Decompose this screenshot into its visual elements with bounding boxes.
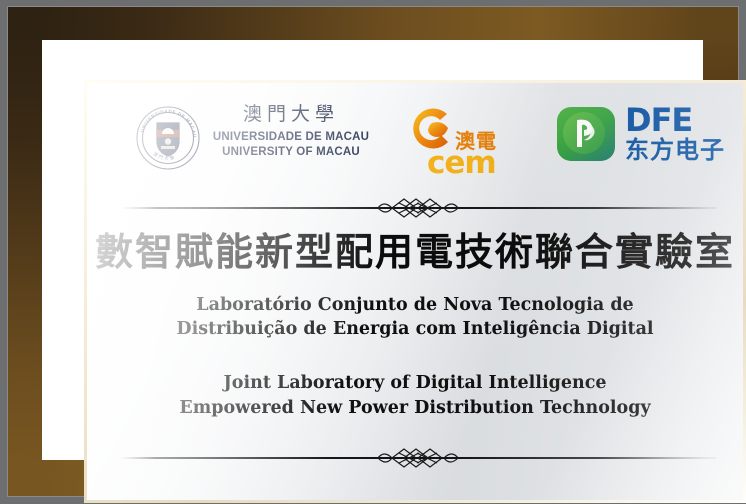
interlaced-diamond-ornament-icon: [366, 195, 470, 221]
dfe-wordmark: DFE: [625, 104, 692, 136]
plaque-title-portuguese-line1: Laboratório Conjunto de Nova Tecnologia …: [87, 293, 743, 317]
um-english-name: UNIVERSITY OF MACAU: [209, 145, 373, 160]
logo-row: UNIVERSIDADE DE MACAU 澳門大學: [87, 97, 743, 183]
plaque-scene: UNIVERSIDADE DE MACAU 澳門大學: [0, 0, 746, 504]
plaque-title-portuguese-line2: Distribuição de Energia com Inteligência…: [87, 317, 743, 341]
logo-university-of-macau: UNIVERSIDADE DE MACAU 澳門大學: [133, 101, 373, 183]
plaque-title-english-line2: Empowered New Power Distribution Technol…: [87, 396, 743, 421]
plaque-title-portuguese: Laboratório Conjunto de Nova Tecnologia …: [87, 293, 743, 341]
plaque-title-english: Joint Laboratory of Digital Intelligence…: [87, 371, 743, 421]
divider-top: [120, 195, 716, 221]
logo-cem: 澳電 cem: [397, 99, 537, 183]
um-portuguese-name: UNIVERSIDADE DE MACAU: [209, 130, 373, 145]
um-crest-icon: UNIVERSIDADE DE MACAU 澳門大學: [135, 105, 201, 171]
um-chinese-name: 澳門大學: [209, 101, 373, 127]
logo-dfe: DFE 东方电子: [555, 101, 735, 181]
plaque-title-english-line1: Joint Laboratory of Digital Intelligence: [87, 371, 743, 396]
dfe-swirl-icon: [555, 103, 617, 165]
cem-wordmark: cem: [427, 145, 496, 181]
plaque-plate: UNIVERSIDADE DE MACAU 澳門大學: [84, 80, 746, 503]
wooden-picture-frame: UNIVERSIDADE DE MACAU 澳門大學: [8, 7, 738, 496]
interlaced-diamond-ornament-icon: [366, 445, 470, 471]
plaque-title-chinese: 數智賦能新型配用電技術聯合實驗室: [87, 221, 743, 276]
um-wordmark: 澳門大學 UNIVERSIDADE DE MACAU UNIVERSITY OF…: [209, 101, 373, 160]
divider-bottom: [120, 445, 716, 471]
dfe-chinese-name: 东方电子: [625, 137, 725, 163]
